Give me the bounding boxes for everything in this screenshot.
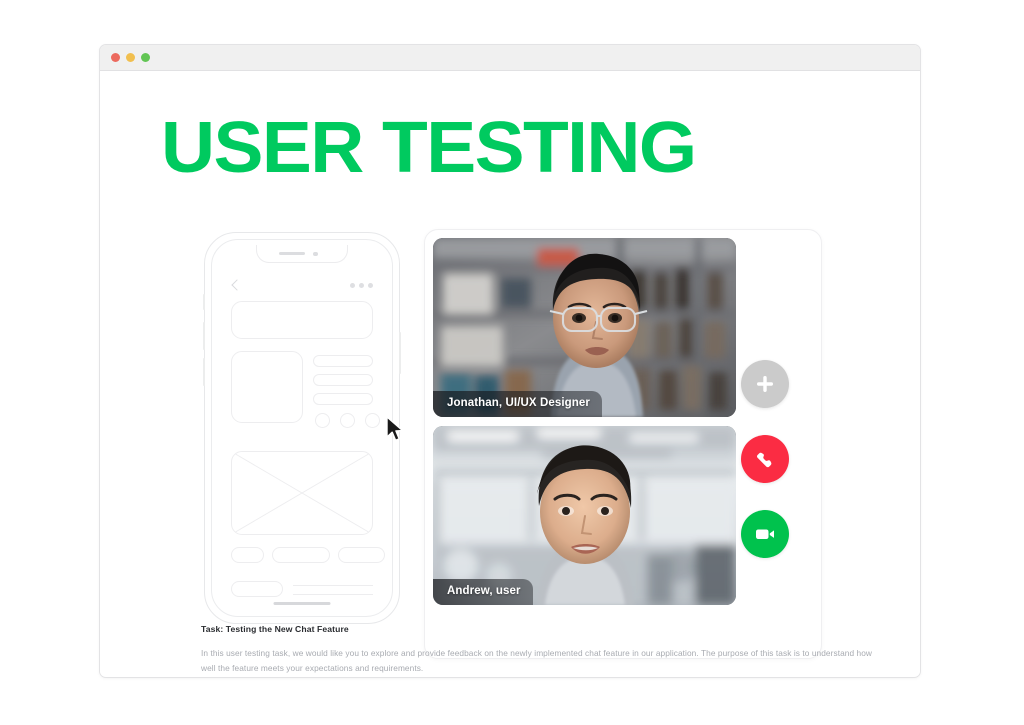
end-call-button[interactable] (741, 435, 789, 483)
wireframe-text-line (313, 393, 373, 405)
wireframe-text-line (293, 594, 373, 595)
phone-screen (217, 245, 387, 611)
wireframe-thumbnail (231, 351, 303, 423)
phone-wireframe (204, 232, 400, 624)
browser-viewport: USER TESTING (100, 71, 920, 676)
task-body: In this user testing task, we would like… (201, 646, 888, 675)
video-call-panel: Jonathan, UI/UX Designer (424, 229, 822, 659)
participant-video-tile[interactable]: Andrew, user (433, 426, 736, 605)
wireframe-pill-button[interactable] (231, 581, 283, 597)
video-camera-icon (753, 522, 777, 546)
screenshot-root: USER TESTING (0, 0, 1024, 725)
phone-home-indicator (274, 602, 331, 605)
browser-window: USER TESTING (99, 44, 921, 678)
wireframe-circle[interactable] (340, 413, 355, 428)
maximize-window-button[interactable] (141, 53, 150, 62)
wireframe-text-line (313, 374, 373, 386)
chevron-left-icon[interactable] (231, 279, 239, 291)
three-dots-icon[interactable] (350, 283, 373, 288)
phone-volume-down-button (203, 358, 205, 386)
earpiece-speaker-icon (279, 252, 305, 255)
wireframe-circle[interactable] (365, 413, 380, 428)
task-title: Task: Testing the New Chat Feature (201, 624, 888, 634)
close-window-button[interactable] (111, 53, 120, 62)
front-camera-icon (313, 252, 318, 257)
minimize-window-button[interactable] (126, 53, 135, 62)
browser-titlebar (100, 45, 920, 71)
wireframe-text-line (293, 585, 373, 586)
plus-icon (754, 373, 776, 395)
phone-power-button (399, 332, 401, 374)
call-controls (741, 360, 789, 558)
wireframe-pill-button[interactable] (338, 547, 385, 563)
participant-name-label: Andrew, user (433, 579, 533, 605)
wireframe-navbar (231, 279, 373, 293)
video-toggle-button[interactable] (741, 510, 789, 558)
wireframe-text-line (313, 355, 373, 367)
add-participant-button[interactable] (741, 360, 789, 408)
phone-mute-switch (203, 294, 205, 310)
participant-name-label: Jonathan, UI/UX Designer (433, 391, 602, 417)
task-description-block: Task: Testing the New Chat Feature In th… (201, 624, 888, 675)
wireframe-pill-button[interactable] (231, 547, 264, 563)
wireframe-circle[interactable] (315, 413, 330, 428)
phone-volume-up-button (203, 322, 205, 350)
wireframe-image-placeholder (231, 451, 373, 535)
phone-hangup-icon (752, 446, 778, 472)
wireframe-pill-button[interactable] (272, 547, 330, 563)
wireframe-search-bar[interactable] (231, 301, 373, 339)
participant-video-tile[interactable]: Jonathan, UI/UX Designer (433, 238, 736, 417)
page-title: USER TESTING (161, 112, 696, 184)
phone-notch (256, 245, 348, 263)
